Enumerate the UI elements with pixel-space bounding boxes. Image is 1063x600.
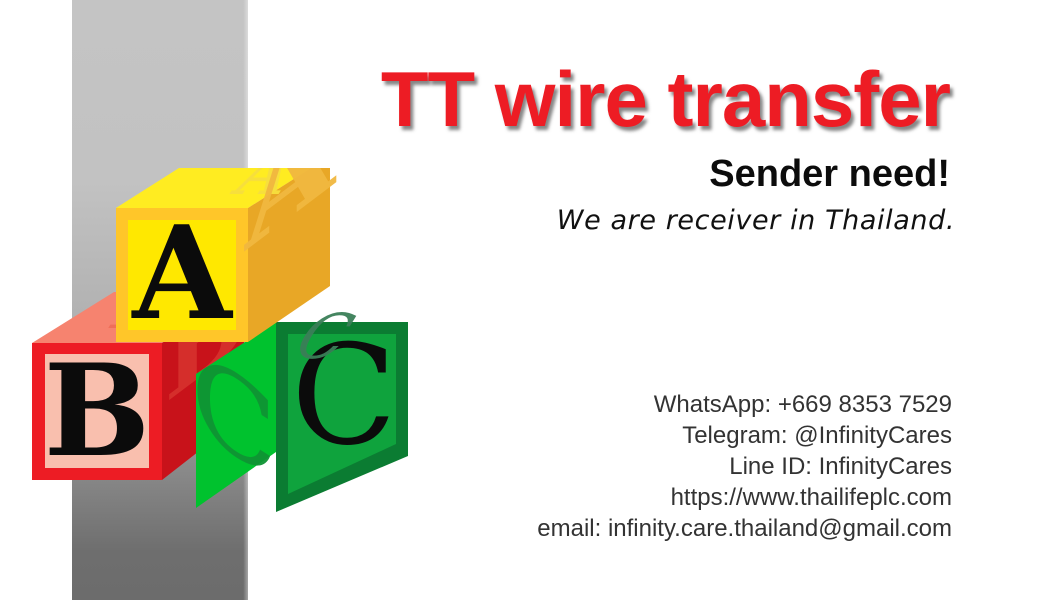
block-letter-a: A: [131, 199, 233, 349]
abc-blocks-svg: B B B C C C: [18, 168, 418, 568]
tagline: We are receiver in Thailand.: [557, 203, 955, 239]
contact-block: WhatsApp: +669 8353 7529 Telegram: @Infi…: [537, 389, 952, 544]
contact-line-website[interactable]: https://www.thailifeplc.com: [537, 482, 952, 513]
block-letter-b: B: [44, 337, 151, 485]
abc-toy-blocks-illustration: B B B C C C: [18, 168, 418, 568]
page-title: TT wire transfer: [381, 57, 950, 141]
promo-banner: B B B C C C: [0, 0, 1063, 600]
contact-line-email[interactable]: email: infinity.care.thailand@gmail.com: [537, 513, 952, 544]
contact-line-telegram: Telegram: @InfinityCares: [537, 420, 952, 451]
contact-line-whatsapp: WhatsApp: +669 8353 7529: [537, 389, 952, 420]
subtitle: Sender need!: [709, 152, 950, 196]
contact-line-line-id: Line ID: InfinityCares: [537, 451, 952, 482]
